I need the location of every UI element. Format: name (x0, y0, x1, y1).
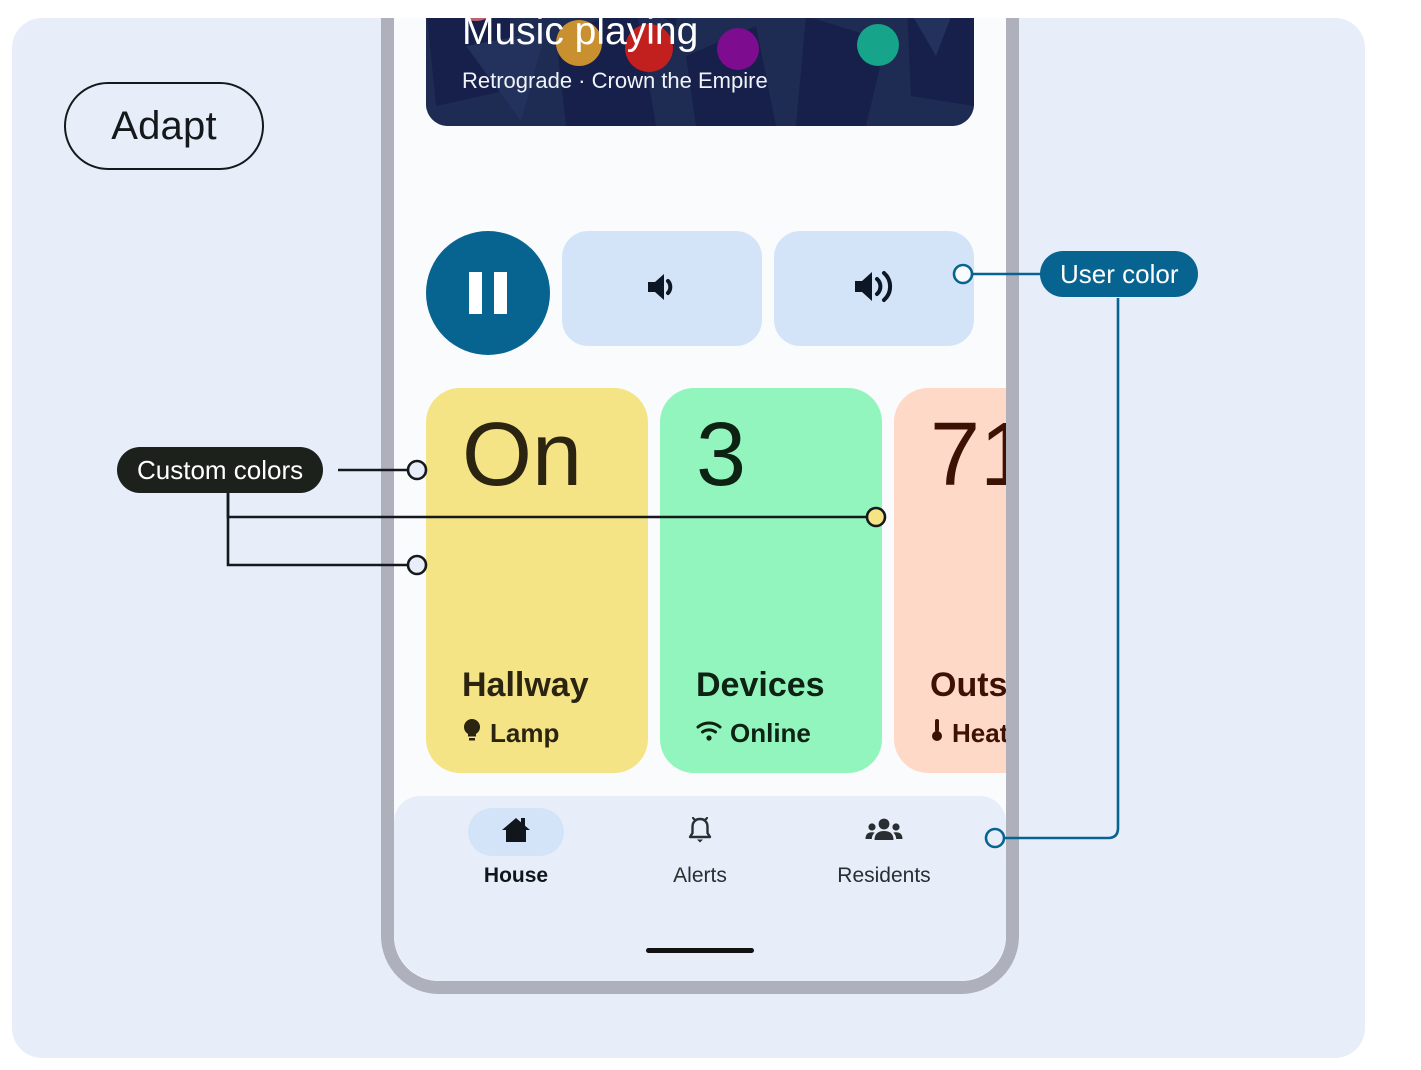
annotation-user-color[interactable]: User color (1040, 251, 1198, 297)
annotation-label: User color (1060, 259, 1178, 290)
tile-hallway[interactable]: On Hallway Lamp (426, 388, 648, 773)
phone-screen: 3 speakers Music playing Retrograde · Cr… (394, 18, 1006, 981)
tile-status-label: Heating (952, 718, 1006, 749)
nav-item-house[interactable]: House (441, 808, 591, 888)
tile-status: Heating (930, 718, 1006, 749)
people-icon (865, 817, 903, 848)
nav-icon-slot (836, 808, 932, 856)
adapt-badge: Adapt (64, 82, 264, 170)
nav-item-label: Residents (837, 864, 930, 888)
tile-name: Outside (930, 666, 1006, 705)
nav-active-pill (468, 808, 564, 856)
tile-value: 3 (696, 410, 746, 500)
music-track-subtitle: Retrograde · Crown the Empire (462, 68, 768, 94)
device-tiles: On Hallway Lamp (426, 388, 1006, 773)
wifi-icon (696, 718, 722, 749)
phone-device-frame: 3 speakers Music playing Retrograde · Cr… (381, 18, 1019, 994)
nav-item-label: House (484, 864, 548, 888)
music-player-card[interactable]: 3 speakers Music playing Retrograde · Cr… (426, 18, 974, 126)
tile-name: Hallway (462, 666, 589, 705)
home-icon (501, 816, 531, 849)
pause-button[interactable] (426, 231, 550, 355)
annotation-custom-colors[interactable]: Custom colors (117, 447, 323, 493)
music-status-title: Music playing (462, 18, 698, 54)
bottom-nav-items: House (394, 808, 1006, 888)
annotation-label: Custom colors (137, 455, 303, 486)
nav-icon-slot (652, 808, 748, 856)
tile-name: Devices (696, 666, 825, 705)
canvas-panel: Adapt (12, 18, 1365, 1058)
nav-item-alerts[interactable]: Alerts (625, 808, 775, 888)
adapt-badge-label: Adapt (111, 104, 217, 149)
tile-status: Lamp (462, 718, 559, 749)
tile-devices[interactable]: 3 Devices Online (660, 388, 882, 773)
nav-item-residents[interactable]: Residents (809, 808, 959, 888)
volume-up-icon (851, 266, 897, 311)
pause-icon (469, 272, 507, 314)
tile-value: On (462, 410, 582, 500)
tile-status-label: Lamp (490, 718, 559, 749)
bell-icon (684, 814, 716, 851)
bottom-navigation-bar: House (394, 796, 1006, 981)
home-indicator (646, 948, 754, 953)
playback-controls (426, 231, 974, 355)
tile-value: 71 (930, 410, 1006, 500)
nav-item-label: Alerts (673, 864, 727, 888)
lightbulb-icon (462, 718, 482, 749)
tile-status: Online (696, 718, 811, 749)
volume-down-icon (642, 267, 682, 310)
volume-up-button[interactable] (774, 231, 974, 346)
tile-status-label: Online (730, 718, 811, 749)
thermometer-icon (930, 718, 944, 749)
screenshot-root: Adapt (0, 0, 1421, 1070)
volume-down-button[interactable] (562, 231, 762, 346)
tile-outside[interactable]: 71 Outside Heating (894, 388, 1006, 773)
